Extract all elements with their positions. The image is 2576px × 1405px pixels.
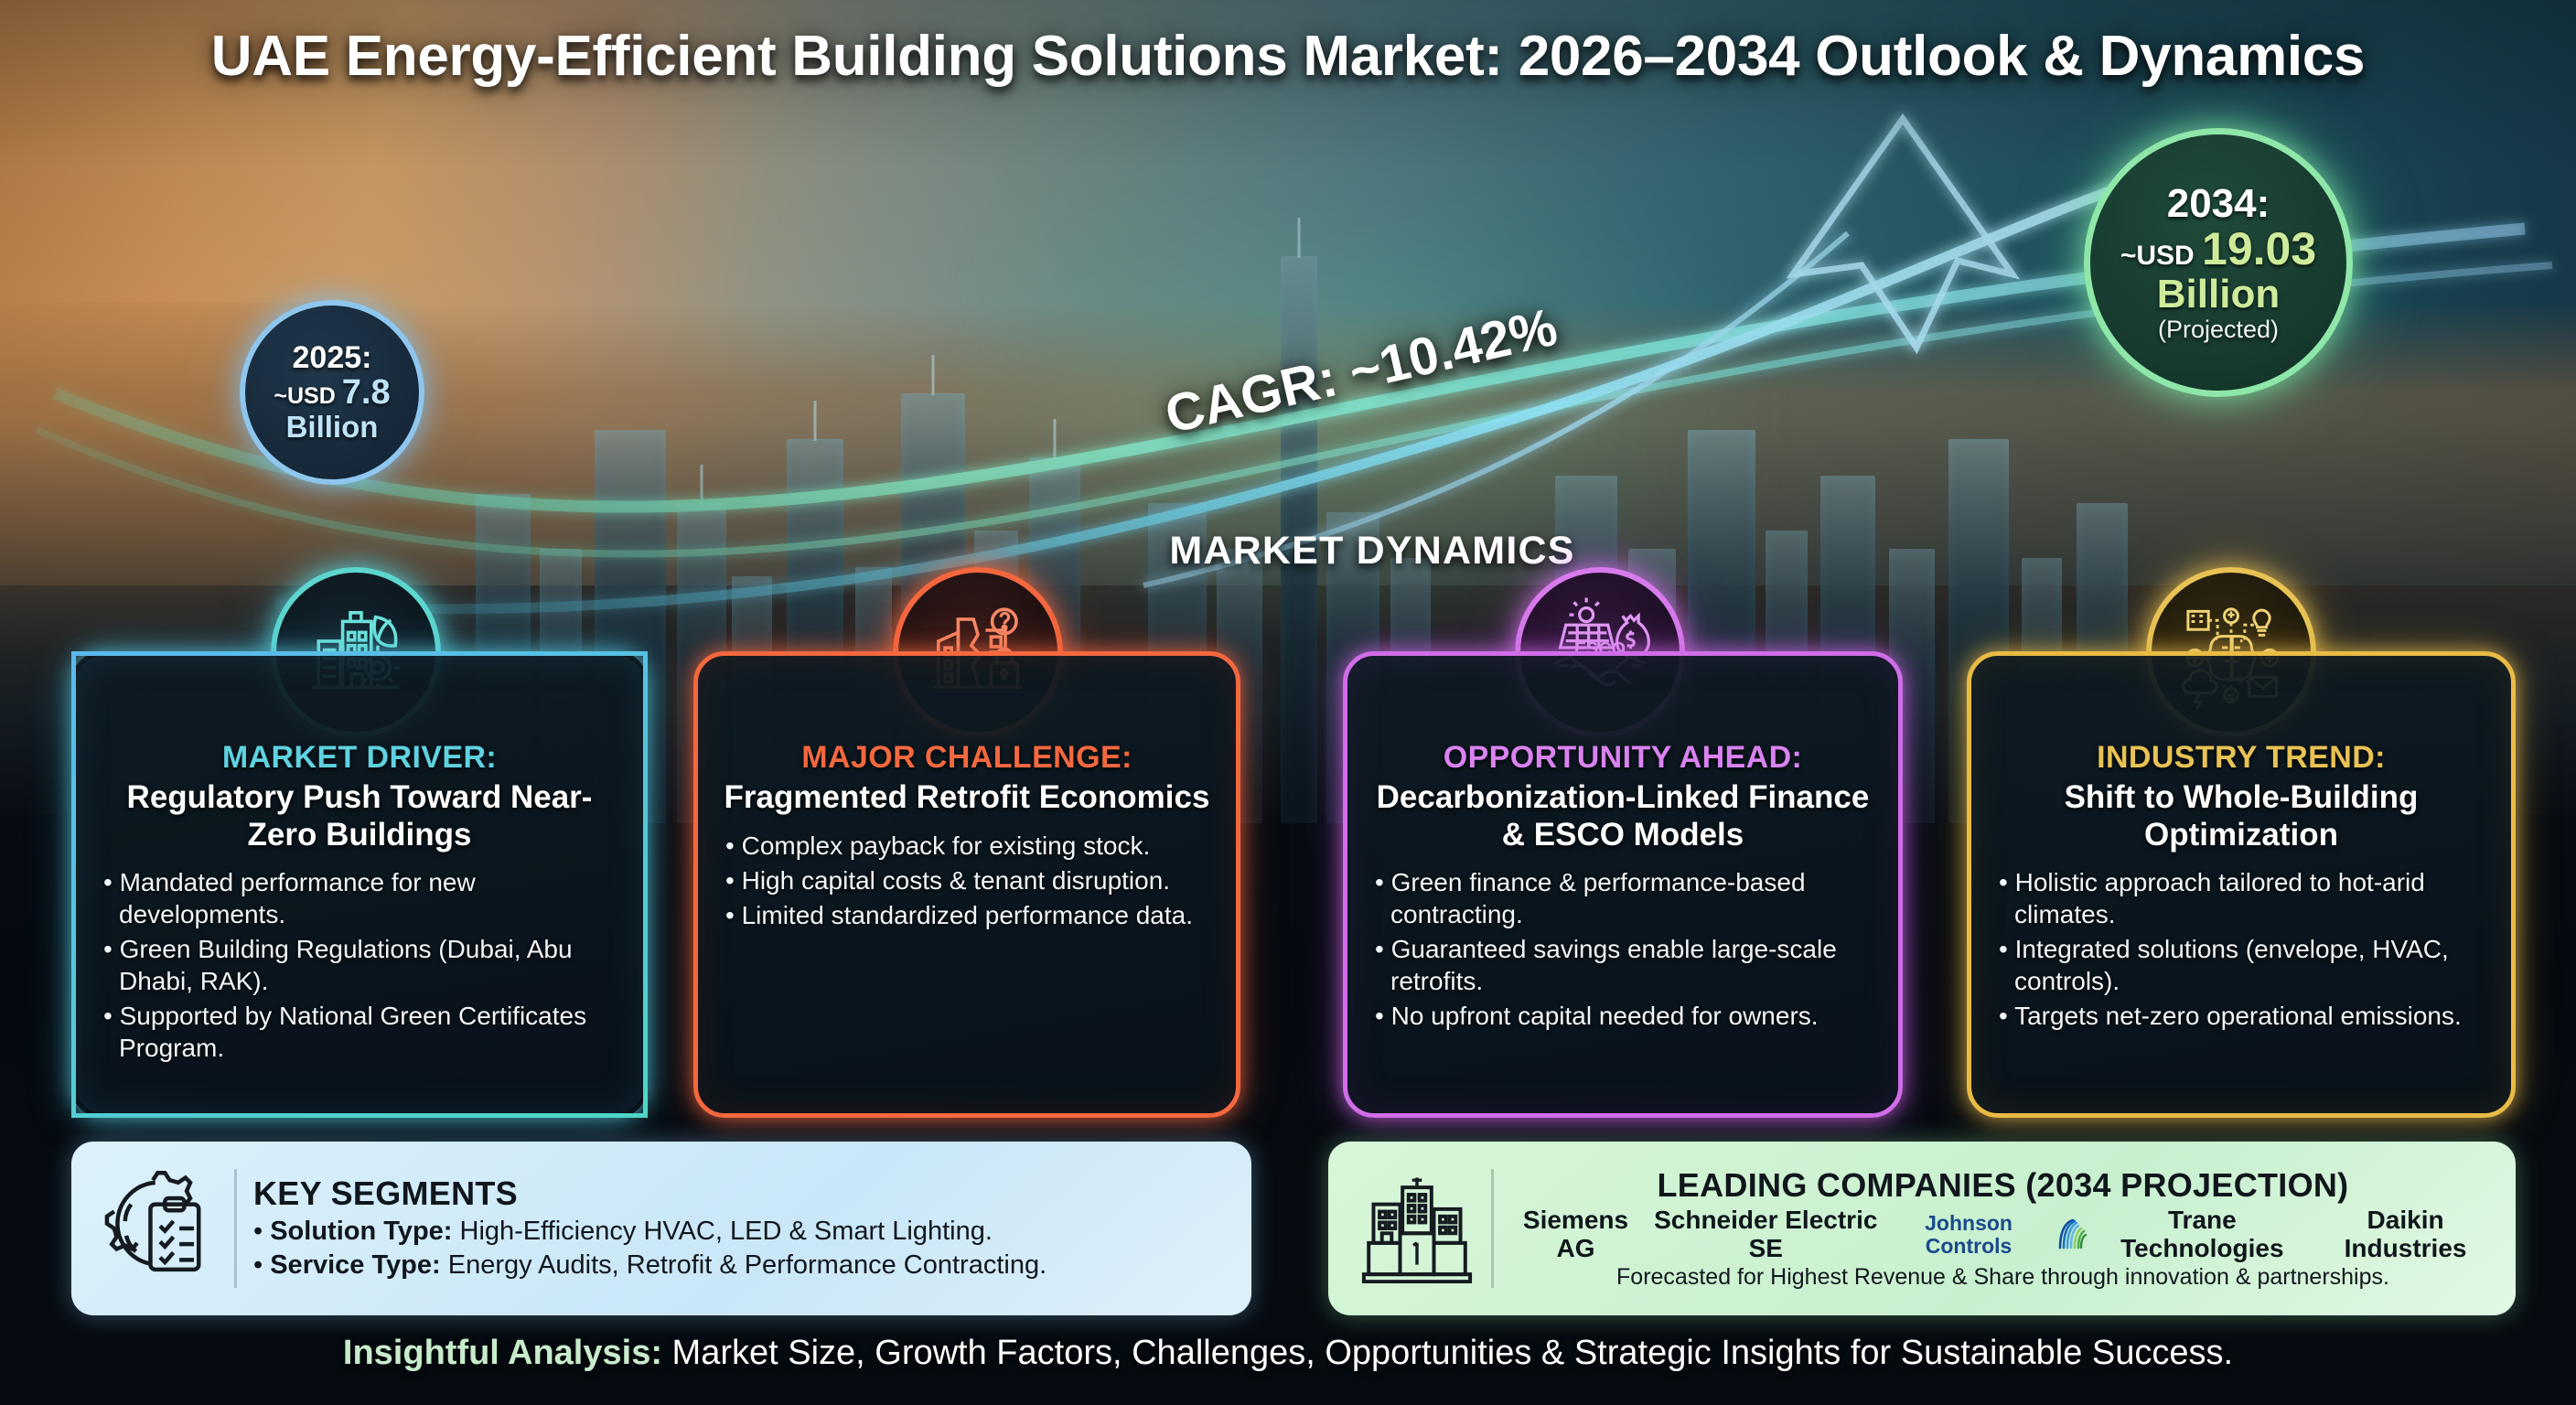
list-item: High capital costs & tenant disruption.	[725, 864, 1212, 896]
company-logo-row: Siemens AG Schneider Electric SE Johnson…	[1510, 1207, 2495, 1263]
card-2-bullets: Complex payback for existing stock. High…	[722, 830, 1212, 931]
card-4-bullets: Holistic approach tailored to hot-arid c…	[1995, 866, 2487, 1032]
gear-clipboard-checklist-icon	[91, 1160, 229, 1297]
list-item: Targets net-zero operational emissions.	[1999, 1000, 2487, 1032]
segments-line-solution: • Solution Type: High-Efficiency HVAC, L…	[253, 1215, 1231, 1249]
card-2-head: MAJOR CHALLENGE:	[722, 740, 1212, 776]
segments-text-solution: High-Efficiency HVAC, LED & Smart Lighti…	[452, 1217, 992, 1246]
leading-companies-panel: LEADING COMPANIES (2034 PROJECTION) Siem…	[1328, 1142, 2516, 1315]
list-item: Mandated performance for new development…	[103, 866, 619, 930]
bubble-2025-usd-prefix: ~USD	[274, 383, 335, 409]
list-item: Holistic approach tailored to hot-arid c…	[1999, 866, 2487, 930]
company-trane: Trane Technologies	[2098, 1207, 2307, 1263]
company-siemens: Siemens AG	[1510, 1207, 1641, 1263]
company-johnson-controls: Johnson Controls	[1891, 1212, 2089, 1256]
bubble-2034-number: 19.03	[2202, 223, 2316, 274]
list-item: Supported by National Green Certificates…	[103, 1000, 619, 1064]
card-1-head: MARKET DRIVER:	[100, 740, 619, 776]
page-title: UAE Energy-Efficient Building Solutions …	[0, 24, 2576, 89]
panel-divider	[234, 1169, 237, 1288]
footer-insight-line: Insightful Analysis: Market Size, Growth…	[0, 1334, 2576, 1373]
bubble-2034-year: 2034:	[2167, 183, 2270, 226]
list-item: Green finance & performance-based contra…	[1375, 866, 1874, 930]
card-4-head: INDUSTRY TREND:	[1995, 740, 2487, 776]
segments-label-service: Service Type:	[270, 1250, 440, 1280]
list-item: Integrated solutions (envelope, HVAC, co…	[1999, 933, 2487, 997]
card-1-bullets: Mandated performance for new development…	[100, 866, 619, 1064]
leading-companies-body: LEADING COMPANIES (2034 PROJECTION) Siem…	[1510, 1166, 2495, 1292]
card-3-subtitle: Decarbonization-Linked Finance & ESCO Mo…	[1371, 779, 1874, 853]
bubble-2034-unit: Billion	[2157, 273, 2280, 316]
segments-line-service: • Service Type: Energy Audits, Retrofit …	[253, 1249, 1231, 1282]
card-2-subtitle: Fragmented Retrofit Economics	[722, 779, 1212, 817]
johnson-controls-label: Johnson Controls	[1891, 1212, 2047, 1256]
card-4-subtitle: Shift to Whole-Building Optimization	[1995, 779, 2487, 853]
bubble-2025-value: ~USD 7.8	[274, 374, 390, 411]
segments-label-solution: Solution Type:	[270, 1217, 452, 1246]
bubble-2025-unit: Billion	[286, 412, 379, 444]
footer-text: Market Size, Growth Factors, Challenges,…	[662, 1334, 2233, 1372]
infographic-canvas: UAE Energy-Efficient Building Solutions …	[0, 0, 2576, 1405]
card-opportunity-ahead: OPPORTUNITY AHEAD: Decarbonization-Linke…	[1343, 651, 1903, 1118]
bubble-2025-year: 2025:	[293, 341, 372, 374]
footer-lead: Insightful Analysis:	[343, 1334, 662, 1372]
card-industry-trend: INDUSTRY TREND: Shift to Whole-Building …	[1967, 651, 2516, 1118]
card-1-subtitle: Regulatory Push Toward Near-Zero Buildin…	[100, 779, 619, 853]
panel-divider	[1491, 1169, 1494, 1288]
card-major-challenge: MAJOR CHALLENGE: Fragmented Retrofit Eco…	[693, 651, 1240, 1118]
list-item: Complex payback for existing stock.	[725, 830, 1212, 862]
company-daikin: Daikin Industries	[2315, 1207, 2495, 1263]
list-item: Limited standardized performance data.	[725, 899, 1212, 931]
bubble-2034-projected-note: (Projected)	[2158, 316, 2279, 343]
key-segments-body: KEY SEGMENTS • Solution Type: High-Effic…	[253, 1174, 1231, 1282]
list-item: Guaranteed savings enable large-scale re…	[1375, 933, 1874, 997]
bubble-2025-number: 7.8	[342, 373, 391, 412]
segments-text-service: Energy Audits, Retrofit & Performance Co…	[441, 1250, 1046, 1280]
key-segments-title: KEY SEGMENTS	[253, 1174, 1231, 1213]
card-3-bullets: Green finance & performance-based contra…	[1371, 866, 1874, 1032]
key-segments-panel: KEY SEGMENTS • Solution Type: High-Effic…	[71, 1142, 1251, 1315]
johnson-controls-logo-icon	[2053, 1214, 2089, 1256]
card-3-head: OPPORTUNITY AHEAD:	[1371, 740, 1874, 776]
leading-companies-title: LEADING COMPANIES (2034 PROJECTION)	[1510, 1166, 2495, 1205]
card-market-driver: MARKET DRIVER: Regulatory Push Toward Ne…	[71, 651, 648, 1118]
company-schneider: Schneider Electric SE	[1650, 1207, 1882, 1263]
podium-buildings-icon	[1348, 1160, 1486, 1297]
market-value-2034-bubble: 2034: ~USD 19.03 Billion (Projected)	[2084, 128, 2353, 397]
list-item: Green Building Regulations (Dubai, Abu D…	[103, 933, 619, 997]
leading-companies-footnote: Forecasted for Highest Revenue & Share t…	[1510, 1264, 2495, 1291]
list-item: No upfront capital needed for owners.	[1375, 1000, 1874, 1032]
bubble-2034-usd-prefix: ~USD	[2120, 241, 2195, 271]
bubble-2034-value: ~USD 19.03	[2120, 225, 2316, 273]
market-value-2025-bubble: 2025: ~USD 7.8 Billion	[240, 300, 424, 485]
